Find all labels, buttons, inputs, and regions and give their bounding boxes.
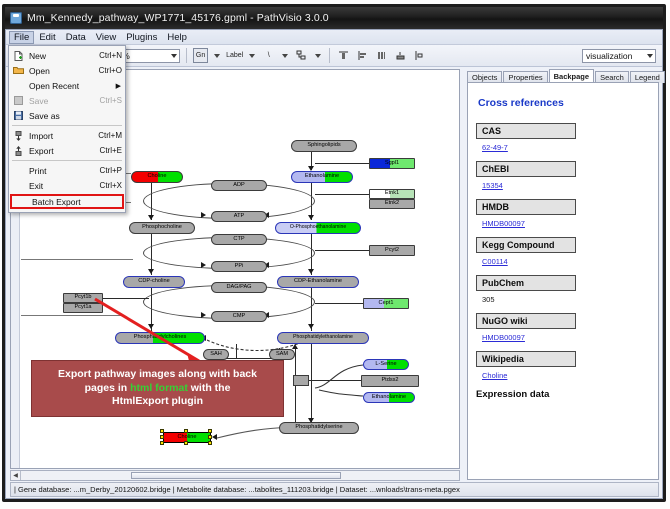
node-label: ATP [234, 214, 244, 220]
arrowhead-choline-pc [148, 215, 154, 220]
file-menu-item-batch-export[interactable]: Batch Export [10, 194, 124, 209]
file-menu-label-save: Save [29, 96, 100, 106]
file-menu-shortcut-new: Ctrl+N [99, 51, 122, 60]
node-label: DAG/PAG [226, 285, 251, 291]
file-menu-shortcut-save: Ctrl+S [100, 96, 122, 105]
callout-line-1: Export pathway images along with back [58, 368, 257, 380]
file-menu-item-export[interactable]: Export Ctrl+E [9, 143, 125, 158]
node-phosphatidylcholines[interactable]: Phosphatidylcholines [115, 332, 205, 344]
node-label: Etnk2 [385, 201, 399, 207]
xref-value-wikipedia[interactable]: Choline [482, 371, 650, 380]
file-menu-item-open-recent[interactable]: Open Recent ▶ [9, 78, 125, 93]
node-gene-etnk2[interactable]: Etnk2 [369, 199, 415, 209]
file-menu-shortcut-exit: Ctrl+X [100, 181, 122, 190]
arrowhead-ope-cdp [308, 269, 314, 274]
node-label: Choline [148, 174, 167, 180]
label-button[interactable]: Label [226, 52, 243, 59]
edge-gene-sgpl1 [315, 163, 369, 164]
callout-line-2a: pages in [85, 382, 131, 394]
node-gene-etnk1[interactable]: Etnk1 [369, 189, 415, 199]
node-gene-pcyt2[interactable]: Pcyt2 [369, 245, 415, 256]
edge-gene-etnk [315, 194, 369, 195]
file-menu-item-print[interactable]: Print Ctrl+P [9, 163, 125, 178]
file-menu-item-open[interactable]: Open Ctrl+O [9, 63, 125, 78]
node-label: SAM [276, 352, 288, 358]
xref-value-cas[interactable]: 62-49-7 [482, 143, 650, 152]
arrowhead-etn-ope [308, 215, 314, 220]
file-menu-label-import: Import [29, 131, 98, 141]
node-label: CMP [233, 314, 245, 320]
edge-gene-pcyt1 [103, 298, 149, 299]
file-menu-label-open-recent: Open Recent [29, 81, 116, 91]
menu-plugins[interactable]: Plugins [121, 31, 162, 44]
selection-handle-sw[interactable] [160, 441, 164, 445]
menu-edit[interactable]: Edit [34, 31, 60, 44]
node-label: Phosphocholine [142, 225, 182, 231]
file-menu-item-new[interactable]: New Ctrl+N [9, 48, 125, 63]
xref-value-hmdb[interactable]: HMDB00097 [482, 219, 650, 228]
gene-product-icon: Gn [196, 52, 205, 59]
xref-link-kegg[interactable]: C00114 [482, 257, 508, 266]
new-file-icon [12, 50, 25, 61]
menu-help[interactable]: Help [162, 31, 192, 44]
interaction-icon [296, 50, 307, 61]
file-menu-separator-2 [12, 160, 122, 161]
guide-line-3 [21, 259, 133, 260]
menu-file[interactable]: File [9, 31, 34, 44]
node-phosphatidylethanolamine[interactable]: Phosphatidylethanolamine [277, 332, 369, 344]
line-tool-button[interactable]: \ [261, 48, 276, 63]
xref-label-nugo: NuGO wiki [476, 313, 576, 329]
node-gene-pcyt1a[interactable]: Pcyt1a [63, 303, 103, 313]
line-dropdown-icon[interactable] [282, 54, 288, 58]
open-folder-icon [12, 65, 25, 76]
menubar: File Edit Data View Plugins Help [6, 30, 662, 45]
file-menu-item-save-as[interactable]: Save as [9, 108, 125, 123]
arrowhead-choline-sel [212, 434, 217, 440]
node-label: Pcyt1a [74, 305, 91, 311]
toolbar-separator-2 [186, 48, 187, 63]
toolbar-separator-3 [329, 48, 330, 63]
node-cmp[interactable]: CMP [211, 311, 267, 322]
align-width-icon [395, 50, 406, 61]
node-phosphatidylserine[interactable]: Phosphatidylserine [279, 422, 359, 434]
node-adp[interactable]: ADP [211, 180, 267, 191]
selection-handle-s[interactable] [184, 441, 188, 445]
file-menu-shortcut-export: Ctrl+E [100, 146, 122, 155]
arrowhead-pc-cdp [148, 269, 154, 274]
align-width-button[interactable] [393, 48, 408, 63]
statusbar: | Gene database: ...m_Derby_20120602.bri… [10, 482, 659, 497]
selection-handle-e[interactable] [208, 435, 212, 439]
node-label: Ptdss2 [381, 378, 398, 384]
node-label: CDP-choline [138, 279, 169, 285]
node-sah[interactable]: SAH [203, 349, 229, 360]
import-icon [12, 130, 25, 141]
node-ethanolamine-2[interactable]: Ethanolamine [363, 392, 415, 403]
node-label: Ethanolamine [305, 174, 339, 180]
node-l-serine[interactable]: L-Serine [363, 359, 409, 370]
node-label: Phosphatidylserine [295, 425, 342, 431]
save-as-icon [12, 110, 25, 121]
interaction-tool-button[interactable] [294, 48, 309, 63]
selection-handle-ne[interactable] [208, 429, 212, 433]
scroll-left-button[interactable]: ◀ [11, 471, 21, 480]
edge-gene-pcyt2 [315, 250, 369, 251]
node-label: Sgpl1 [385, 161, 399, 167]
window-title: Mm_Kennedy_pathway_WP1771_45176.gpml - P… [27, 12, 329, 24]
node-label: Ethanolamine [372, 395, 406, 401]
chevron-down-icon [647, 54, 653, 58]
node-gene-ptdss2[interactable]: Ptdss2 [361, 375, 419, 387]
file-menu-item-import[interactable]: Import Ctrl+M [9, 128, 125, 143]
selection-handle-w[interactable] [160, 435, 164, 439]
node-label: Sphingolipids [307, 143, 340, 149]
node-ctp[interactable]: CTP [211, 234, 267, 245]
node-choline[interactable]: Choline [131, 171, 183, 183]
node-label: Cept1 [379, 301, 394, 307]
node-label: Pcyt1b [74, 295, 91, 301]
file-menu-shortcut-open: Ctrl+O [99, 66, 122, 75]
selection-handle-se[interactable] [208, 441, 212, 445]
file-menu-label-open: Open [29, 66, 99, 76]
node-label: CTP [233, 237, 244, 243]
xref-value-chebi[interactable]: 15354 [482, 181, 650, 190]
file-menu-label-exit: Exit [29, 181, 100, 191]
statusbar-text: | Gene database: ...m_Derby_20120602.bri… [14, 485, 460, 494]
interaction-dropdown-icon[interactable] [315, 54, 321, 58]
gene-product-button[interactable]: Gn [193, 48, 208, 63]
callout-line-3: HtmlExport plugin [112, 395, 203, 407]
callout-line-2b: with the [188, 382, 231, 394]
xref-value-kegg[interactable]: C00114 [482, 257, 650, 266]
node-phosphocholine[interactable]: Phosphocholine [129, 222, 195, 234]
menu-view[interactable]: View [91, 31, 121, 44]
align-top-icon [338, 50, 349, 61]
expression-data-heading: Expression data [476, 389, 650, 400]
node-dag-pag[interactable]: DAG/PAG [211, 282, 267, 293]
node-label: Etnk1 [385, 191, 399, 197]
guide-line-4 [21, 315, 121, 316]
node-sam[interactable]: SAM [269, 349, 295, 360]
backpage-content: Cross references CAS 62-49-7 ChEBI 15354… [467, 82, 659, 480]
file-menu-shortcut-print: Ctrl+P [100, 166, 122, 175]
arrowhead-cdp-ptdetn [308, 324, 314, 329]
window-titlebar: Mm_Kennedy_pathway_WP1771_45176.gpml - P… [5, 7, 663, 29]
align-center-icon [376, 50, 387, 61]
arrowhead-cmp-left [201, 312, 206, 318]
label-dropdown-icon[interactable] [249, 54, 255, 58]
callout-highlight: html format [130, 382, 188, 394]
canvas-horizontal-scrollbar[interactable]: ◀ [10, 470, 460, 481]
xref-label-hmdb: HMDB [476, 199, 576, 215]
arrowhead-atp-left [201, 212, 206, 218]
arrowhead-cdp-ptdcho [148, 324, 154, 329]
align-left-button[interactable] [355, 48, 370, 63]
selection-handle-n[interactable] [184, 429, 188, 433]
line-icon: \ [268, 52, 270, 59]
xref-label-cas: CAS [476, 123, 576, 139]
node-label: Pcyt2 [385, 248, 399, 254]
node-label: L-Serine [375, 362, 396, 368]
screenshot-root: Mm_Kennedy_pathway_WP1771_45176.gpml - P… [0, 0, 670, 509]
node-atp[interactable]: ATP [211, 211, 267, 222]
export-icon [12, 145, 25, 156]
visualization-value: visualization [586, 51, 632, 61]
file-menu-item-save[interactable]: Save Ctrl+S [9, 93, 125, 108]
cross-references-heading: Cross references [478, 97, 650, 109]
submenu-arrow-icon: ▶ [116, 82, 121, 90]
node-gene-cept1[interactable]: Cept1 [363, 298, 409, 309]
side-panel: Objects Properties Backpage Search Legen… [463, 69, 659, 481]
node-label: Phosphatidylcholines [134, 335, 187, 341]
file-menu-label-export: Export [29, 146, 100, 156]
visualization-combo[interactable]: visualization [582, 49, 656, 63]
xref-label-kegg: Kegg Compound [476, 237, 576, 253]
align-left-icon [357, 50, 368, 61]
node-label: Choline [178, 435, 197, 441]
node-cdp-choline[interactable]: CDP-choline [123, 276, 185, 288]
tab-backpage[interactable]: Backpage [549, 69, 594, 83]
node-o-phosphoethanolamine[interactable]: O-Phosphoethanolamine [275, 222, 361, 234]
file-menu-item-exit[interactable]: Exit Ctrl+X [9, 178, 125, 193]
file-menu-shortcut-import: Ctrl+M [98, 131, 122, 140]
xref-label-pubchem: PubChem [476, 275, 576, 291]
xref-link-wikipedia[interactable]: Choline [482, 371, 507, 380]
node-label: Phosphatidylethanolamine [293, 335, 353, 340]
menu-data[interactable]: Data [61, 31, 91, 44]
node-label: ADP [233, 183, 245, 189]
node-ethanolamine[interactable]: Ethanolamine [291, 171, 353, 183]
edge-gene-cept1 [315, 303, 363, 304]
node-label: O-Phosphoethanolamine [290, 225, 346, 230]
align-center-button[interactable] [374, 48, 389, 63]
scrollbar-thumb[interactable] [131, 472, 341, 479]
file-menu-label-new: New [29, 51, 99, 61]
application-body: File Edit Data View Plugins Help Zoom: 1… [5, 29, 663, 499]
xref-link-nugo[interactable]: HMDB00097 [482, 333, 525, 342]
xref-link-hmdb[interactable]: HMDB00097 [482, 219, 525, 228]
node-cdp-ethanolamine[interactable]: CDP-Ethanolamine [277, 276, 359, 288]
node-ppi[interactable]: PPi [211, 261, 267, 272]
side-panel-tabs: Objects Properties Backpage Search Legen… [467, 69, 659, 83]
xref-label-chebi: ChEBI [476, 161, 576, 177]
annotation-callout: Export pathway images along with back pa… [31, 360, 284, 417]
file-menu-dropdown[interactable]: New Ctrl+N Open Ctrl+O Open Recent ▶ Sav [8, 45, 126, 213]
arrowhead-ppi-left [201, 262, 206, 268]
xref-link-chebi[interactable]: 15354 [482, 181, 503, 190]
node-anchor-box[interactable] [293, 375, 309, 386]
gene-product-dropdown-icon[interactable] [214, 54, 220, 58]
xref-label-wikipedia: Wikipedia [476, 351, 576, 367]
node-label: PPi [235, 264, 244, 270]
group-icon [414, 50, 425, 61]
file-menu-label-print: Print [29, 166, 100, 176]
xref-value-pubchem: 305 [482, 295, 650, 304]
edge-ptdser-ptdetn-back [295, 346, 296, 426]
group-button[interactable] [412, 48, 427, 63]
chevron-down-icon [171, 54, 177, 58]
xref-link-cas[interactable]: 62-49-7 [482, 143, 508, 152]
node-label: CDP-Ethanolamine [294, 279, 342, 285]
node-label: SAH [210, 352, 222, 358]
file-menu-label-save-as: Save as [29, 111, 122, 121]
xref-value-nugo[interactable]: HMDB00097 [482, 333, 650, 342]
align-top-button[interactable] [336, 48, 351, 63]
file-menu-separator-1 [12, 125, 122, 126]
node-gene-sgpl1[interactable]: Sgpl1 [369, 158, 415, 169]
pathvisio-icon [10, 12, 22, 24]
node-gene-pcyt1b[interactable]: Pcyt1b [63, 293, 103, 303]
selection-handle-nw[interactable] [160, 429, 164, 433]
file-menu-label-batch-export: Batch Export [32, 197, 119, 207]
save-disk-icon [12, 95, 25, 106]
node-sphingolipids[interactable]: Sphingolipids [291, 140, 357, 152]
